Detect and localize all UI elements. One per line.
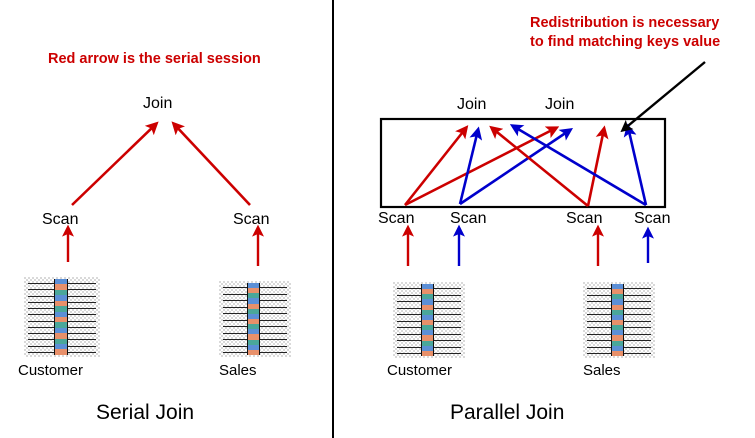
table-key-column: [247, 283, 260, 355]
left-panel-title: Serial Join: [96, 402, 194, 423]
table-icon-sales-serial: [219, 281, 291, 357]
redistribution-note-line2: to find matching keys value: [530, 33, 720, 51]
panel-divider: [332, 0, 334, 438]
serial-arrow-right-scan-to-join: [174, 124, 250, 205]
parallel-table-label-sales: Sales: [583, 363, 621, 378]
redist-arrow-red-2: [405, 128, 556, 205]
table-key-cell: [612, 351, 623, 356]
redistribution-note-line1: Redistribution is necessary: [530, 14, 719, 32]
table-icon-customer-serial: [24, 277, 100, 357]
serial-join-label: Join: [143, 96, 172, 112]
serial-table-label-sales: Sales: [219, 363, 257, 378]
redist-arrow-red-4: [588, 129, 604, 206]
parallel-table-label-customer: Customer: [387, 363, 452, 378]
redistribution-arrows: [405, 126, 646, 206]
serial-scan-label-left: Scan: [42, 212, 78, 228]
redistribution-box: [381, 119, 665, 207]
serial-scan-label-right: Scan: [233, 212, 269, 228]
diagram-canvas: Red arrow is the serial session Join Sca…: [0, 0, 755, 438]
parallel-join-label-1: Join: [457, 97, 486, 113]
right-panel-title: Parallel Join: [450, 402, 564, 423]
table-icon-customer-parallel: [393, 282, 465, 358]
table-key-column: [421, 284, 434, 356]
redist-arrow-blue-3: [513, 126, 646, 205]
serial-join-arrows: [68, 124, 258, 266]
serial-arrow-left-scan-to-join: [72, 124, 156, 205]
redist-arrow-blue-1: [460, 130, 478, 204]
table-key-cell: [55, 349, 67, 354]
table-key-cell: [248, 350, 259, 355]
table-key-cell: [422, 351, 433, 356]
serial-table-label-customer: Customer: [18, 363, 83, 378]
serial-note-text: Red arrow is the serial session: [48, 50, 261, 68]
table-icon-sales-parallel: [583, 282, 655, 358]
redist-arrow-red-3: [492, 128, 588, 206]
redist-arrow-blue-4: [628, 127, 646, 205]
parallel-scan-label-1: Scan: [378, 211, 414, 227]
parallel-scan-label-3: Scan: [566, 211, 602, 227]
parallel-scan-label-4: Scan: [634, 211, 670, 227]
parallel-scan-label-2: Scan: [450, 211, 486, 227]
redist-arrow-red-1: [405, 128, 466, 205]
table-key-column: [54, 279, 68, 355]
redist-arrow-blue-2: [460, 130, 570, 204]
parallel-scan-arrows: [408, 228, 648, 266]
parallel-join-label-2: Join: [545, 97, 574, 113]
table-key-column: [611, 284, 624, 356]
annotation-pointer-arrow: [623, 62, 705, 130]
